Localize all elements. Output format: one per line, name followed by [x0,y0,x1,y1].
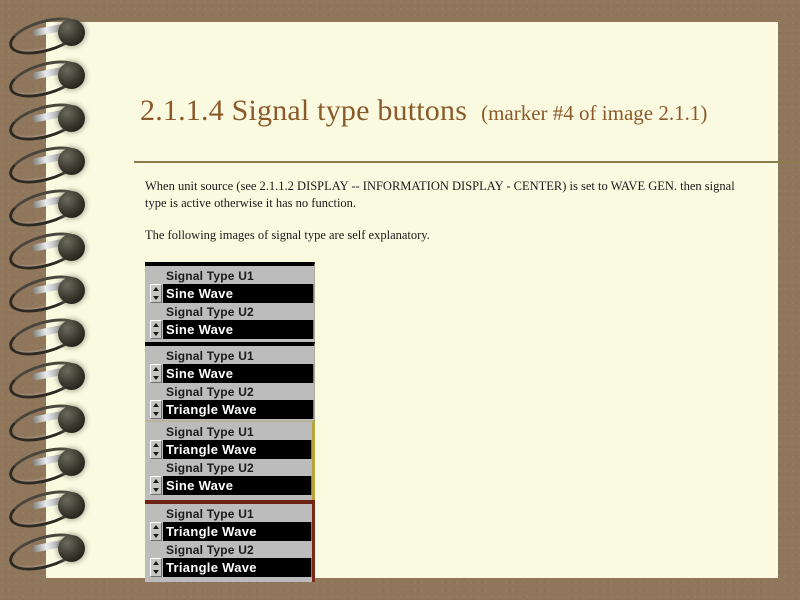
signal-type-widget-3: Signal Type U1Triangle WaveSignal Type U… [145,420,315,500]
signal-type-value[interactable]: Triangle Wave [163,400,314,419]
signal-type-label: Signal Type U1 [166,507,312,521]
body-paragraph-1: When unit source (see 2.1.1.2 DISPLAY --… [145,178,745,212]
title-divider [134,161,800,163]
spinner-down-button[interactable] [151,294,161,302]
signal-type-widget-2: Signal Type U1Sine WaveSignal Type U2Tri… [145,342,315,424]
triangle-down-icon [153,412,159,416]
signal-type-row: Triangle Wave [150,558,312,577]
spinner-up-button[interactable] [151,321,161,329]
signal-type-row: Sine Wave [150,320,314,339]
spinner-up-button[interactable] [151,441,161,449]
spinner-down-button[interactable] [151,330,161,338]
triangle-down-icon [153,332,159,336]
signal-type-label: Signal Type U1 [166,425,312,439]
spinner-up-button[interactable] [151,523,161,531]
signal-type-label: Signal Type U1 [166,269,314,283]
signal-type-spinner[interactable] [150,364,162,383]
spinner-up-button[interactable] [151,365,161,373]
signal-type-value[interactable]: Triangle Wave [163,522,312,541]
triangle-up-icon [153,287,159,291]
signal-type-label: Signal Type U2 [166,543,312,557]
signal-type-row: Triangle Wave [150,440,312,459]
triangle-down-icon [153,534,159,538]
triangle-up-icon [153,403,159,407]
signal-type-spinner[interactable] [150,558,162,577]
page-title: 2.1.1.4 Signal type buttons [140,94,467,127]
triangle-down-icon [153,570,159,574]
signal-type-spinner[interactable] [150,440,162,459]
triangle-up-icon [153,323,159,327]
signal-type-value[interactable]: Triangle Wave [163,558,312,577]
spinner-down-button[interactable] [151,374,161,382]
spinner-down-button[interactable] [151,450,161,458]
signal-type-value[interactable]: Sine Wave [163,364,314,383]
triangle-down-icon [153,488,159,492]
signal-type-spinner[interactable] [150,400,162,419]
triangle-up-icon [153,525,159,529]
signal-type-widget-4: Signal Type U1Triangle WaveSignal Type U… [145,500,315,582]
spinner-up-button[interactable] [151,285,161,293]
triangle-up-icon [153,561,159,565]
signal-type-value[interactable]: Triangle Wave [163,440,312,459]
triangle-up-icon [153,367,159,371]
signal-type-row: Sine Wave [150,364,314,383]
signal-type-value[interactable]: Sine Wave [163,320,314,339]
signal-type-label: Signal Type U2 [166,305,314,319]
body-copy: When unit source (see 2.1.1.2 DISPLAY --… [145,178,745,244]
signal-type-label: Signal Type U2 [166,385,314,399]
signal-type-spinner[interactable] [150,320,162,339]
signal-type-spinner[interactable] [150,522,162,541]
signal-type-value[interactable]: Sine Wave [163,476,312,495]
triangle-down-icon [153,376,159,380]
signal-type-row: Sine Wave [150,476,312,495]
signal-type-spinner[interactable] [150,476,162,495]
signal-type-label: Signal Type U1 [166,349,314,363]
spinner-down-button[interactable] [151,532,161,540]
spinner-up-button[interactable] [151,477,161,485]
page-subtitle: (marker #4 of image 2.1.1) [481,101,707,125]
spinner-up-button[interactable] [151,559,161,567]
signal-type-row: Triangle Wave [150,522,312,541]
signal-type-row: Sine Wave [150,284,314,303]
spinner-up-button[interactable] [151,401,161,409]
spinner-down-button[interactable] [151,486,161,494]
signal-type-label: Signal Type U2 [166,461,312,475]
spinner-down-button[interactable] [151,568,161,576]
signal-type-spinner[interactable] [150,284,162,303]
triangle-down-icon [153,452,159,456]
signal-type-row: Triangle Wave [150,400,314,419]
notebook-page: 2.1.1.4 Signal type buttons (marker #4 o… [46,22,778,578]
spinner-down-button[interactable] [151,410,161,418]
body-paragraph-2: The following images of signal type are … [145,227,745,244]
triangle-up-icon [153,479,159,483]
page-title-block: 2.1.1.4 Signal type buttons (marker #4 o… [140,94,800,128]
signal-type-widget-1: Signal Type U1Sine WaveSignal Type U2Sin… [145,262,315,344]
triangle-down-icon [153,296,159,300]
signal-type-value[interactable]: Sine Wave [163,284,314,303]
triangle-up-icon [153,443,159,447]
